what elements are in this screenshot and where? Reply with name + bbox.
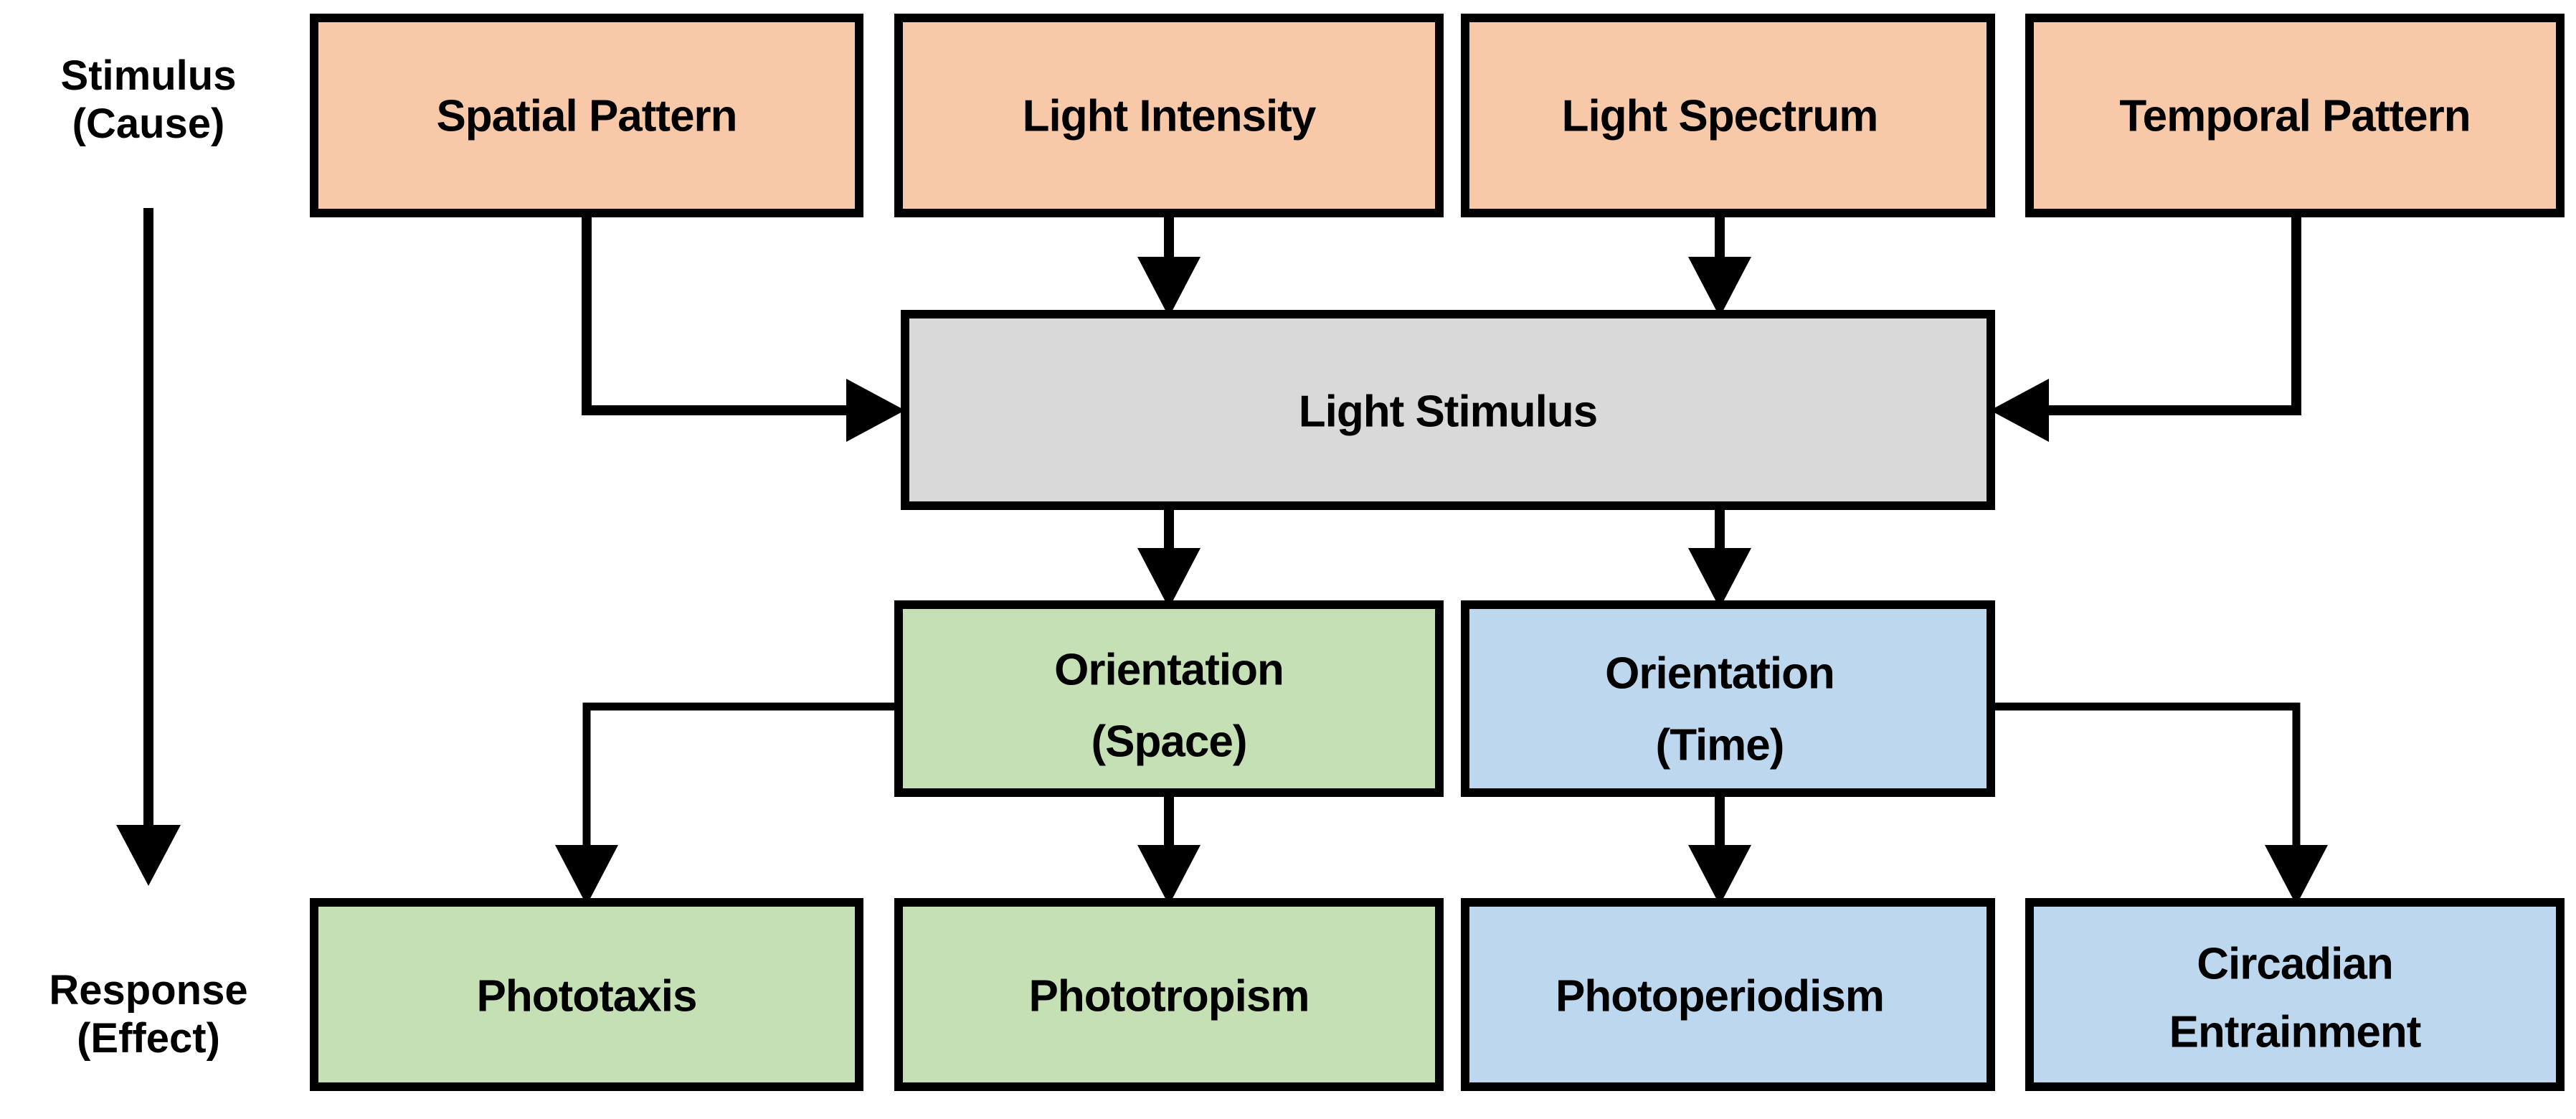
node-orientation-space-label-line2: (Space) [1092,717,1247,766]
node-orientation-space[interactable]: Orientation (Space) [899,605,1439,793]
node-orientation-space-label-line1: Orientation [1054,645,1284,694]
node-temporal-pattern-label: Temporal Pattern [2119,91,2470,141]
edge-spatial-pattern-to-light-stimulus [587,213,905,442]
node-circadian-entrainment[interactable]: Circadian Entrainment [2030,902,2560,1087]
edge-light-stimulus-to-orientation-space [1137,506,1201,608]
node-orientation-time[interactable]: Orientation (Time) [1465,605,1991,793]
node-circadian-entrainment-rect[interactable] [2030,902,2560,1087]
node-orientation-time-label-line2: (Time) [1656,720,1784,770]
node-phototaxis[interactable]: Phototaxis [314,902,859,1087]
diagram-canvas: Stimulus (Cause) Response (Effect) [0,0,2576,1119]
node-spatial-pattern-label: Spatial Pattern [436,91,737,141]
cause-to-effect-arrow [116,208,181,886]
node-temporal-pattern[interactable]: Temporal Pattern [2030,18,2560,213]
node-phototaxis-label: Phototaxis [477,971,697,1021]
edge-light-spectrum-to-light-stimulus [1688,213,1751,317]
node-photoperiodism-label: Photoperiodism [1555,971,1884,1021]
flowchart-svg: Stimulus (Cause) Response (Effect) [0,0,2576,1119]
node-light-spectrum[interactable]: Light Spectrum [1465,18,1991,213]
edge-orientation-space-to-phototropism [1137,793,1201,905]
edge-orientation-space-to-phototaxis [555,707,899,905]
cause-to-effect-arrowhead [116,825,181,886]
node-light-intensity[interactable]: Light Intensity [899,18,1439,213]
node-circadian-entrainment-label-line1: Circadian [2197,939,2393,988]
axis-top-label-line2: (Cause) [72,100,225,147]
node-photoperiodism[interactable]: Photoperiodism [1465,902,1991,1087]
stimulus-row: Spatial Pattern Light Intensity Light Sp… [314,18,2560,213]
edge-light-stimulus-to-orientation-time [1688,506,1751,608]
response-row: Phototaxis Phototropism Photoperiodism C… [314,902,2560,1087]
edge-orientation-time-to-circadian-entrainment [1991,707,2328,905]
edge-orientation-time-to-photoperiodism [1688,793,1751,905]
axis-bottom-label-line1: Response [49,967,247,1014]
node-spatial-pattern[interactable]: Spatial Pattern [314,18,859,213]
node-light-spectrum-label: Light Spectrum [1562,91,1878,141]
hub-row: Light Stimulus [905,314,1991,506]
node-light-stimulus-label: Light Stimulus [1299,387,1598,436]
node-light-intensity-label: Light Intensity [1023,91,1317,141]
node-circadian-entrainment-label-line2: Entrainment [2169,1007,2421,1057]
orientation-row: Orientation (Space) Orientation (Time) [899,605,1991,793]
axis-top-label-line1: Stimulus [61,52,237,99]
axis-group: Stimulus (Cause) Response (Effect) [49,52,247,1062]
node-phototropism[interactable]: Phototropism [899,902,1439,1087]
node-phototropism-label: Phototropism [1029,971,1310,1021]
axis-bottom-label-line2: (Effect) [77,1015,220,1062]
node-light-stimulus[interactable]: Light Stimulus [905,314,1991,506]
edge-temporal-pattern-to-light-stimulus [1990,213,2296,442]
node-orientation-time-label-line1: Orientation [1605,648,1834,698]
edge-light-intensity-to-light-stimulus [1137,213,1201,317]
